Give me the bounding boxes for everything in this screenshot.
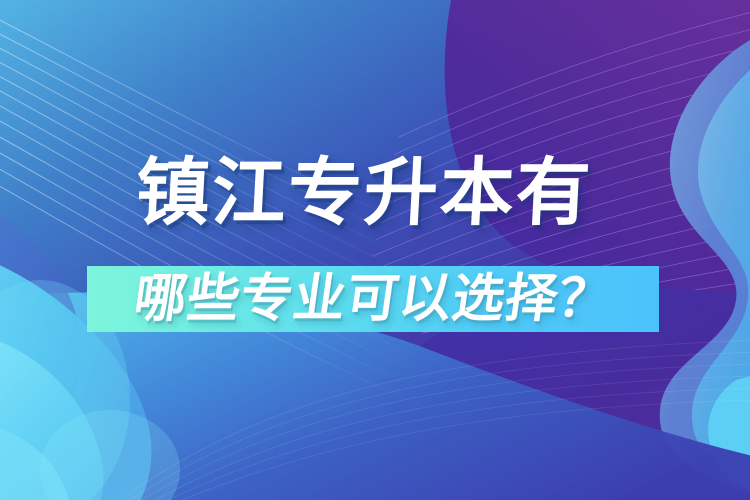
- promo-banner: 镇江专升本有 哪些专业可以选择？: [0, 0, 750, 500]
- background-artwork: [0, 0, 750, 500]
